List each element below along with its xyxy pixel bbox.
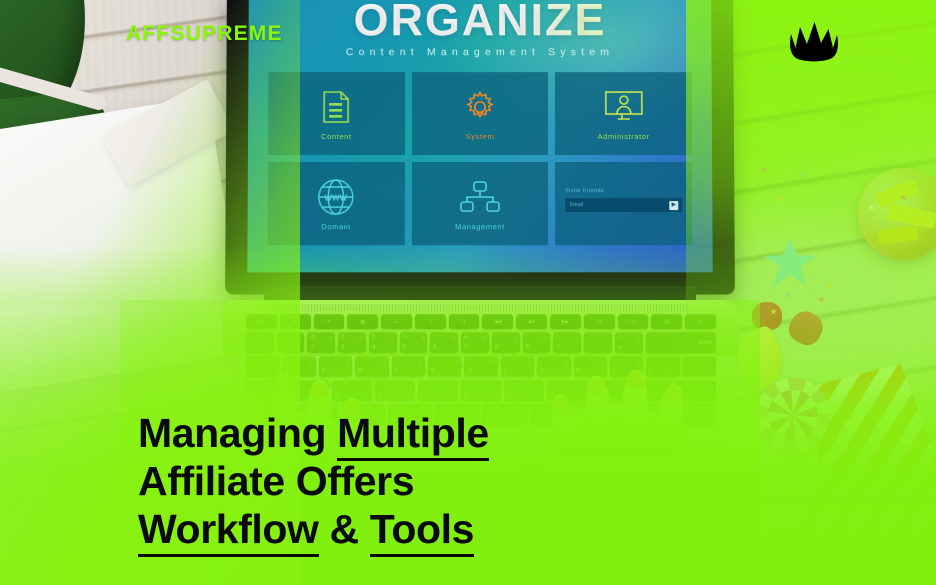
key-J[interactable]: Jข (504, 380, 544, 401)
headline-line3-underlined-a: Workflow (138, 506, 319, 557)
tile-label: Domain (321, 222, 351, 231)
key-8[interactable]: *8ก (492, 332, 520, 353)
key-esc[interactable]: esc (246, 314, 277, 329)
tile-management[interactable]: Management (411, 162, 548, 245)
headline-line-3: Workflow & Tools (138, 506, 778, 554)
key--[interactable]: _-ก (584, 332, 612, 353)
keyboard-number-row[interactable]: ~`ก!1ก@2ก#3ก$4ก%5ก^6ก&7ก*8ก(9ก)0ก_-ก+=กd… (246, 332, 716, 353)
key-T[interactable]: Tข (392, 356, 425, 377)
speaker-grille (272, 304, 688, 311)
key-H[interactable]: Hข (461, 380, 501, 401)
key-F4[interactable]: ☷ (381, 314, 412, 329)
key-`[interactable]: ~`ก (246, 332, 274, 353)
poster-canvas: ORGANIZE Content Management System (0, 0, 936, 585)
headline-line1-underlined: Multiple (337, 410, 489, 461)
headline-line-2: Affiliate Offers (138, 458, 778, 506)
tile-system[interactable]: System (412, 72, 549, 155)
laptop: ORGANIZE Content Management System (212, 0, 742, 344)
hierarchy-icon (457, 177, 503, 217)
key-G[interactable]: Gข (418, 380, 458, 401)
key-F12[interactable]: ◁)) (651, 314, 682, 329)
headline-line2-plain: Affiliate Offers (138, 458, 414, 504)
svg-text:WWW: WWW (325, 193, 348, 202)
tile-label: System (466, 132, 495, 141)
keyboard-q-row[interactable]: QขWขEขRขTขYขUขIขOขPข[ข]ข\ข (246, 356, 716, 377)
key-F3[interactable]: ▦ (347, 314, 378, 329)
key-R[interactable]: Rข (355, 356, 388, 377)
key-\[interactable]: \ข (683, 356, 716, 377)
tile-domain[interactable]: WWW Domain (268, 162, 405, 245)
key-6[interactable]: ^6ก (430, 332, 458, 353)
key-F2[interactable]: ☀ (314, 314, 345, 329)
fingernail (663, 385, 684, 404)
tile-content[interactable]: Content (268, 72, 405, 155)
arrow-right-icon[interactable]: ▶ (669, 201, 678, 210)
invite-form: Invite Friends Email ▶ (565, 188, 682, 212)
invite-email-value: Email (569, 202, 583, 208)
brand-logo: AFFSUPREME (126, 22, 283, 46)
monitor-user-icon (600, 87, 646, 127)
key-U[interactable]: Uข (464, 356, 497, 377)
key-Q[interactable]: Qข (246, 356, 279, 377)
keyboard-function-row[interactable]: esc☀☀▦☷◑◕◀◀▶‖▶▶◁◁)◁))⏻ (246, 314, 716, 329)
key-E[interactable]: Eข (319, 356, 352, 377)
globe-www-icon: WWW (313, 177, 359, 217)
key-2[interactable]: @2ก (307, 332, 335, 353)
tile-label: Content (321, 132, 351, 141)
key-⏻[interactable]: ⏻ (685, 314, 716, 329)
tile-label: Administrator (598, 132, 650, 141)
key-F1[interactable]: ☀ (280, 314, 311, 329)
laptop-screen: ORGANIZE Content Management System (247, 0, 712, 272)
headline-line3-plain: & (319, 506, 370, 552)
key-=[interactable]: +=ก (615, 332, 643, 353)
invite-form-label: Invite Friends (565, 188, 682, 194)
key-F5[interactable]: ◑ (415, 314, 446, 329)
screen-subtitle: Content Management System (248, 46, 711, 58)
screen-tile-grid: Content System (268, 72, 693, 245)
key-][interactable]: ]ข (646, 356, 679, 377)
invite-email-input[interactable]: Email ▶ (565, 198, 682, 212)
tile-invite-panel[interactable]: Invite Friends Email ▶ (555, 162, 692, 245)
fingernail (587, 377, 607, 394)
tile-label: Management (455, 222, 505, 231)
screen-title: ORGANIZE (249, 0, 712, 46)
key-F9[interactable]: ▶▶ (550, 314, 581, 329)
key-P[interactable]: Pข (574, 356, 607, 377)
key-F[interactable]: Fข (375, 380, 415, 401)
document-icon (313, 87, 359, 127)
key-7[interactable]: &7ก (461, 332, 489, 353)
key-9[interactable]: (9ก (523, 332, 551, 353)
key-1[interactable]: !1ก (277, 332, 305, 353)
lemon-slice (877, 225, 919, 244)
fingernail (274, 376, 294, 393)
key-3[interactable]: #3ก (338, 332, 366, 353)
headline-line-1: Managing Multiple (138, 410, 778, 458)
key-F7[interactable]: ◀◀ (482, 314, 513, 329)
crown-icon (786, 18, 842, 64)
headline-line1-plain: Managing (138, 410, 337, 456)
key-F11[interactable]: ◁) (618, 314, 649, 329)
key-O[interactable]: Oข (537, 356, 570, 377)
key-I[interactable]: Iข (501, 356, 534, 377)
key-F8[interactable]: ▶‖ (516, 314, 547, 329)
page-headline: Managing Multiple Affiliate Offers Workf… (138, 410, 778, 554)
key-F6[interactable]: ◕ (449, 314, 480, 329)
tile-administrator[interactable]: Administrator (555, 72, 692, 155)
key-5[interactable]: %5ก (400, 332, 428, 353)
key-0[interactable]: )0ก (553, 332, 581, 353)
key-Y[interactable]: Yข (428, 356, 461, 377)
key-4[interactable]: $4ก (369, 332, 397, 353)
key-F10[interactable]: ◁ (584, 314, 615, 329)
gear-icon (457, 87, 503, 127)
fingernail (626, 372, 646, 389)
headline-line3-underlined-b: Tools (370, 506, 474, 557)
laptop-lid: ORGANIZE Content Management System (225, 0, 735, 294)
key-delete[interactable]: delete (646, 332, 717, 353)
fingernail (310, 381, 330, 398)
